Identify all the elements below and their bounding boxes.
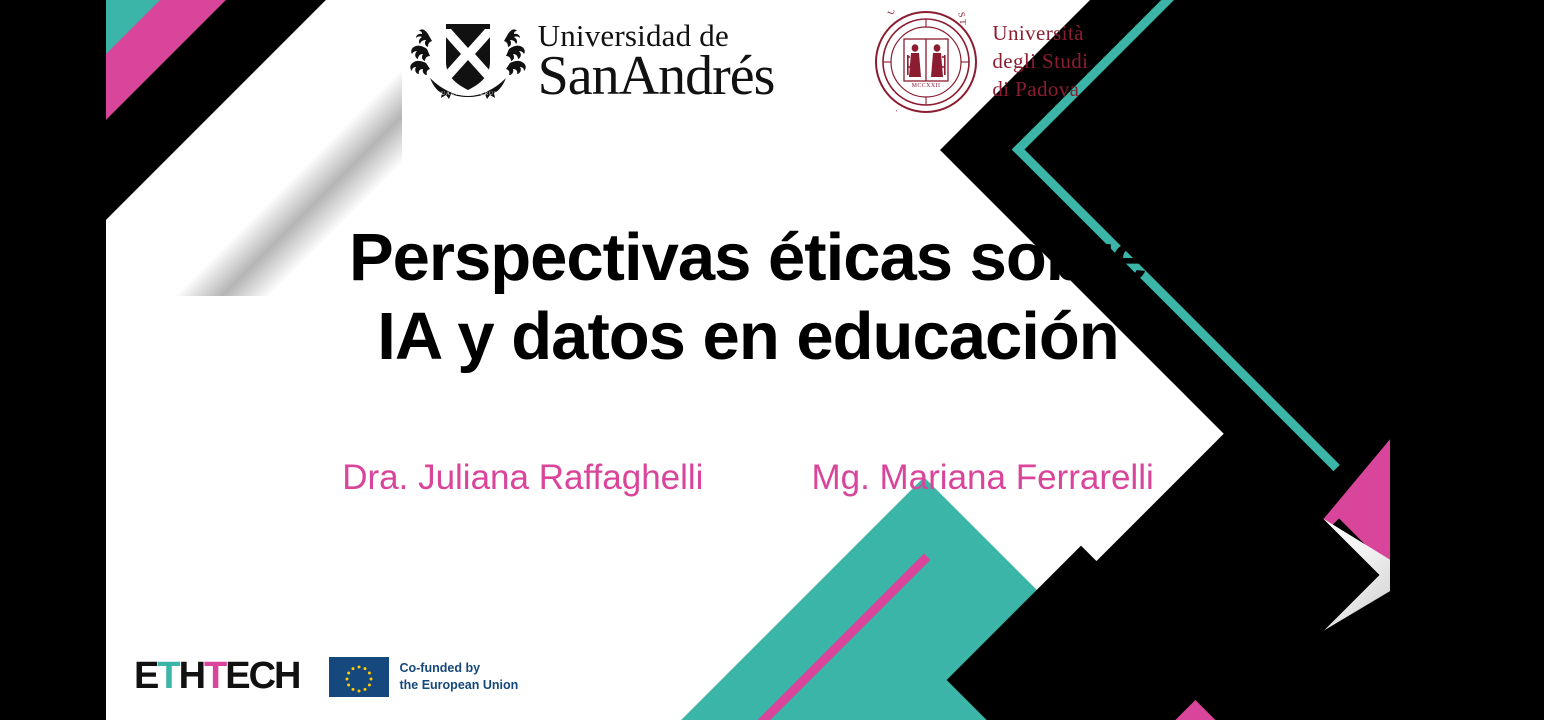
- san-andres-crest-icon: QUAERERE VERUM: [408, 16, 528, 108]
- padova-line2: degli Studi: [992, 48, 1088, 76]
- eu-flag-icon: [329, 657, 389, 697]
- author-list: Dra. Juliana Raffaghelli Mg. Mariana Fer…: [106, 458, 1390, 498]
- ethtech-part-ech: ECH: [225, 655, 299, 698]
- padova-seal-icon: MCCXXII UNIVERSITAS · STUDII · · PADUANI…: [874, 10, 978, 114]
- ethtech-logo: E T H T ECH: [134, 655, 299, 698]
- san-andres-logo: QUAERERE VERUM Universidad de SanAndrés: [408, 16, 775, 108]
- slide-content: QUAERERE VERUM Universidad de SanAndrés: [106, 0, 1390, 720]
- presentation-slide: QUAERERE VERUM Universidad de SanAndrés: [0, 0, 1544, 720]
- svg-text:MCCXXII: MCCXXII: [912, 83, 941, 89]
- eu-funding-text: Co-funded by the European Union: [399, 660, 518, 694]
- eu-funding-line1: Co-funded by: [399, 660, 518, 677]
- slide-canvas: QUAERERE VERUM Universidad de SanAndrés: [106, 0, 1390, 720]
- institution-logo-row: QUAERERE VERUM Universidad de SanAndrés: [106, 10, 1390, 114]
- eu-funding-logo: Co-funded by the European Union: [329, 657, 518, 697]
- ethtech-part-t1: T: [157, 655, 178, 698]
- ethtech-part-t2: T: [204, 655, 225, 698]
- ethtech-part-e: E: [134, 655, 157, 698]
- padova-line1: Università: [992, 20, 1088, 48]
- svg-text:QUAERERE VERUM: QUAERERE VERUM: [436, 91, 499, 97]
- slide-title: Perspectivas éticas sobre IA y datos en …: [106, 218, 1390, 376]
- padova-logo: MCCXXII UNIVERSITAS · STUDII · · PADUANI…: [874, 10, 1088, 114]
- padova-line3: di Padova: [992, 76, 1088, 104]
- footer-logo-row: E T H T ECH: [134, 655, 518, 698]
- san-andres-wordmark: Universidad de SanAndrés: [538, 20, 775, 104]
- san-andres-line2: SanAndrés: [538, 48, 775, 104]
- left-frame-bar: [0, 0, 106, 720]
- author-name-2: Mg. Mariana Ferrarelli: [811, 458, 1153, 498]
- author-name-1: Dra. Juliana Raffaghelli: [342, 458, 703, 498]
- padova-wordmark: Università degli Studi di Padova: [992, 20, 1088, 103]
- ethtech-part-h: H: [179, 655, 204, 698]
- eu-funding-line2: the European Union: [399, 677, 518, 694]
- right-frame-bar: [1390, 0, 1544, 720]
- title-block: Perspectivas éticas sobre IA y datos en …: [106, 218, 1390, 376]
